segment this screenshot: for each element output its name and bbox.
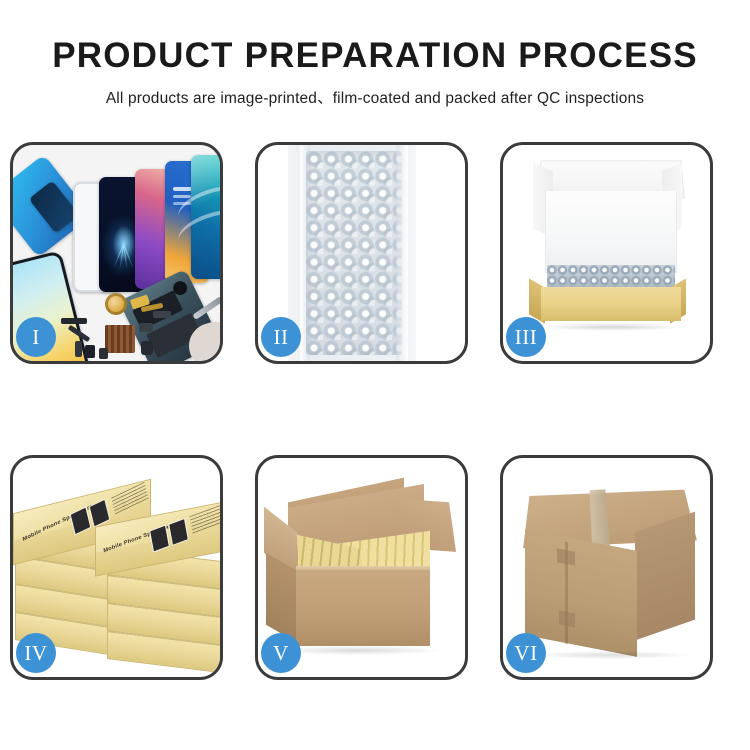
step-badge-4: IV bbox=[16, 633, 56, 673]
drop-shadow bbox=[539, 323, 685, 331]
step-badge-1: I bbox=[16, 317, 56, 357]
mailer-box-foam-liner bbox=[545, 191, 677, 273]
process-steps-grid: I II bbox=[10, 142, 740, 680]
spare-part bbox=[141, 341, 153, 355]
spare-part bbox=[85, 345, 95, 358]
carton-tab bbox=[559, 610, 575, 627]
process-step-panel-4: Mobile Phone Spare Parts Mobile Phone Sp… bbox=[10, 455, 223, 680]
process-step-panel-1: I bbox=[10, 142, 223, 364]
copper-coil-part bbox=[105, 293, 127, 315]
step-badge-2: II bbox=[261, 317, 301, 357]
mailer-box-front bbox=[541, 287, 681, 321]
spare-part bbox=[75, 341, 82, 357]
page-subtitle: All products are image-printed、film-coat… bbox=[0, 75, 750, 108]
process-step-panel-6: VI bbox=[500, 455, 713, 680]
connector-grid-part bbox=[105, 325, 135, 353]
step-badge-3: III bbox=[506, 317, 546, 357]
process-step-panel-5: V bbox=[255, 455, 468, 680]
phone-screen-teal bbox=[191, 155, 220, 279]
page-title: PRODUCT PREPARATION PROCESS bbox=[0, 0, 750, 75]
box-screen-image bbox=[149, 525, 170, 553]
carton-front-wall bbox=[296, 570, 430, 646]
process-step-panel-3: III bbox=[500, 142, 713, 364]
spare-part bbox=[139, 323, 153, 332]
process-step-panel-2: II bbox=[255, 142, 468, 364]
spare-part bbox=[153, 311, 171, 318]
drop-shadow bbox=[529, 651, 693, 659]
step-badge-6: VI bbox=[506, 633, 546, 673]
box-screen-image bbox=[168, 518, 189, 546]
spare-part bbox=[61, 318, 87, 324]
spare-part bbox=[99, 348, 108, 359]
bubble-wrap-bag bbox=[288, 145, 416, 361]
product-preparation-process-page: PRODUCT PREPARATION PROCESS All products… bbox=[0, 0, 750, 750]
page-header: PRODUCT PREPARATION PROCESS All products… bbox=[0, 0, 750, 108]
step-badge-5: V bbox=[261, 633, 301, 673]
carton-front-face bbox=[525, 529, 637, 657]
carton-right-face bbox=[635, 512, 695, 641]
bubble-texture bbox=[306, 151, 402, 355]
